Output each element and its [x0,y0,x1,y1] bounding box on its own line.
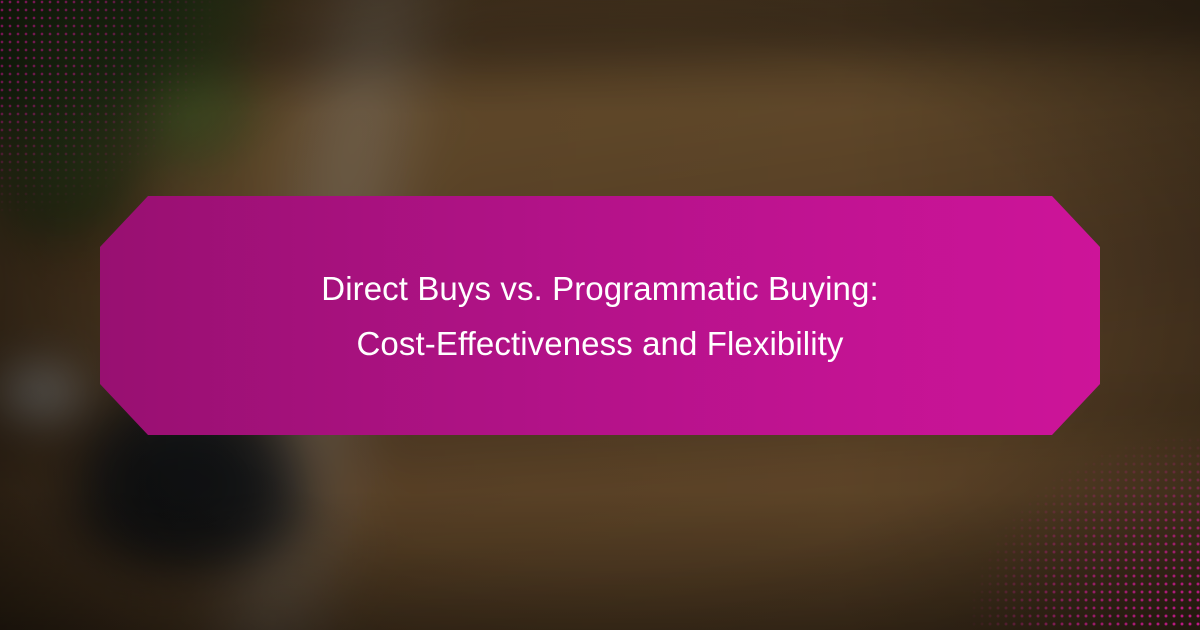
page-title: Direct Buys vs. Programmatic Buying: Cos… [251,261,948,371]
social-card: Direct Buys vs. Programmatic Buying: Cos… [0,0,1200,630]
title-banner: Direct Buys vs. Programmatic Buying: Cos… [100,196,1100,435]
